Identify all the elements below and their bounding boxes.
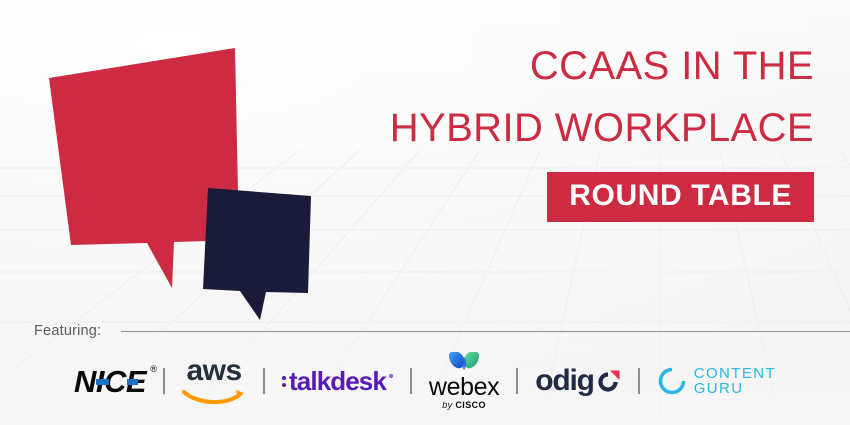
logo-content-guru: CONTENT GURU <box>657 350 776 412</box>
logo-webex: webex by CISCO <box>429 350 499 412</box>
nice-accent-bar-2 <box>127 379 138 385</box>
webex-mark-icon <box>446 352 482 374</box>
featuring-label: Featuring: <box>34 323 101 339</box>
odigo-wordmark: odig <box>535 366 594 396</box>
aws-smile-icon <box>182 387 246 405</box>
logo-separator <box>638 368 640 394</box>
logo-separator <box>163 368 165 394</box>
webex-by-label: by <box>442 400 452 410</box>
sponsor-logo-strip: NICE ® aws talkde <box>0 350 850 412</box>
promo-banner: CCAAS IN THE HYBRID WORKPLACE ROUND TABL… <box>0 0 850 425</box>
featuring-divider-line <box>121 331 850 332</box>
registered-trademark-icon: ® <box>150 364 157 374</box>
headline-line-1: CCAAS IN THE <box>274 46 814 86</box>
talkdesk-wordmark: talkdesk <box>289 368 386 394</box>
headline-line-2: HYBRID WORKPLACE <box>274 108 814 148</box>
content-guru-wordmark-line-1: CONTENT <box>694 366 776 381</box>
logo-separator <box>263 368 265 394</box>
talkdesk-dot-icon <box>389 374 393 378</box>
webex-wordmark: webex <box>429 375 499 400</box>
content-guru-wordmark-line-2: GURU <box>694 381 776 396</box>
logo-separator <box>410 368 412 394</box>
logo-talkdesk: talkdesk <box>282 350 393 412</box>
logo-nice: NICE ® <box>74 350 146 412</box>
nice-accent-bar-1 <box>96 379 109 385</box>
webex-byline: by CISCO <box>442 401 486 410</box>
cisco-label: CISCO <box>455 400 486 410</box>
odigo-flag-o-icon <box>595 369 621 395</box>
featuring-row: Featuring: <box>34 320 850 342</box>
logo-odigo: odig <box>535 350 621 412</box>
logo-aws: aws <box>182 350 246 412</box>
round-table-badge: ROUND TABLE <box>547 172 814 222</box>
talkdesk-colon-icon <box>282 376 286 387</box>
aws-wordmark: aws <box>186 357 241 386</box>
logo-separator <box>516 368 518 394</box>
headline-block: CCAAS IN THE HYBRID WORKPLACE ROUND TABL… <box>274 46 814 222</box>
content-guru-mark-icon <box>657 366 687 396</box>
